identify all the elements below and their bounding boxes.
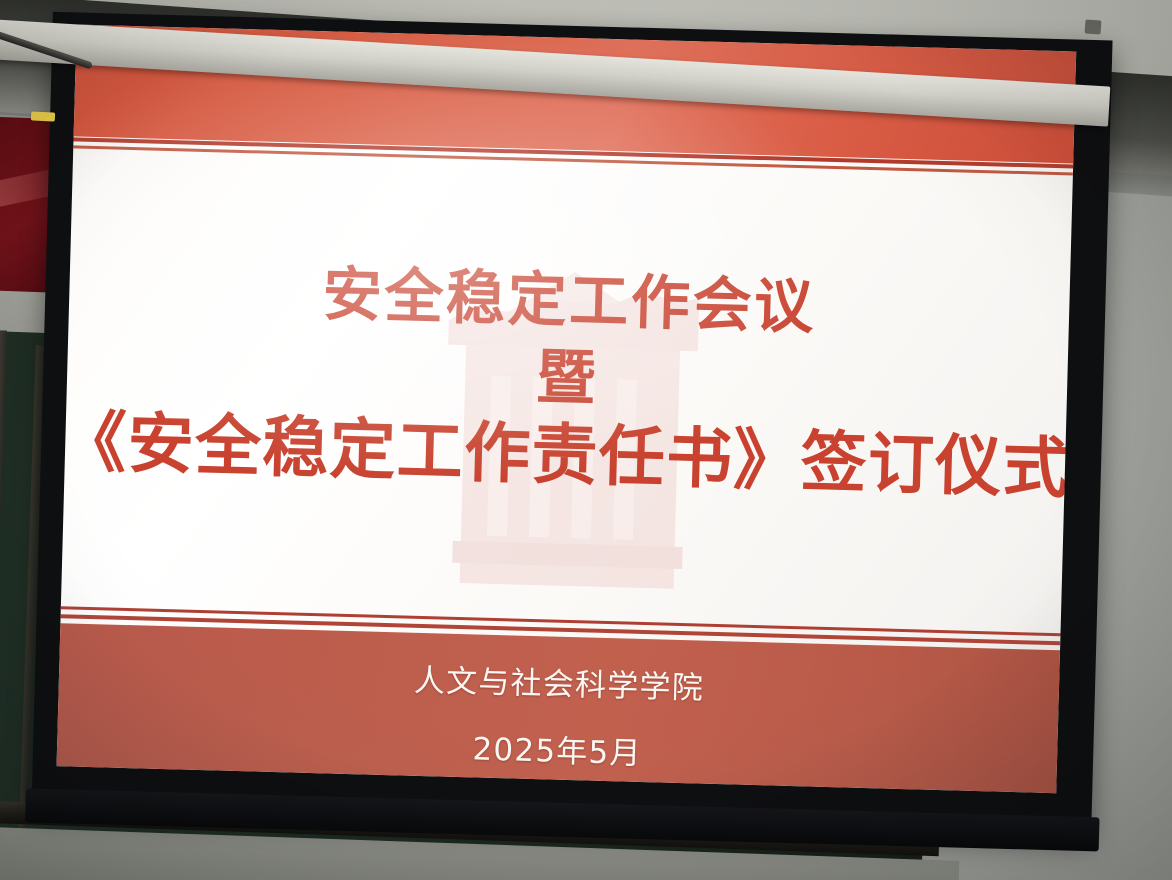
footer-organization: 人文与社会科学学院 — [413, 655, 704, 708]
slide-footer-block: 人文与社会科学学院 2025年5月 — [57, 623, 1061, 793]
housing-label-sticker — [31, 111, 55, 121]
ceiling-mount-bracket-right — [1085, 19, 1102, 34]
footer-date: 2025年5月 — [472, 723, 642, 773]
title-line-2: 暨 — [536, 346, 599, 410]
classroom-scene: 安全稳定工作会议 暨 《安全稳定工作责任书》签订仪式 人文与社会科学学院 202… — [0, 0, 1172, 880]
presentation-slide: 安全稳定工作会议 暨 《安全稳定工作责任书》签订仪式 人文与社会科学学院 202… — [57, 24, 1077, 793]
projection-screen: 安全稳定工作会议 暨 《安全稳定工作责任书》签订仪式 人文与社会科学学院 202… — [31, 12, 1112, 835]
title-line-3: 《安全稳定工作责任书》签订仪式 — [59, 407, 1070, 504]
title-line-1: 安全稳定工作会议 — [322, 263, 817, 339]
